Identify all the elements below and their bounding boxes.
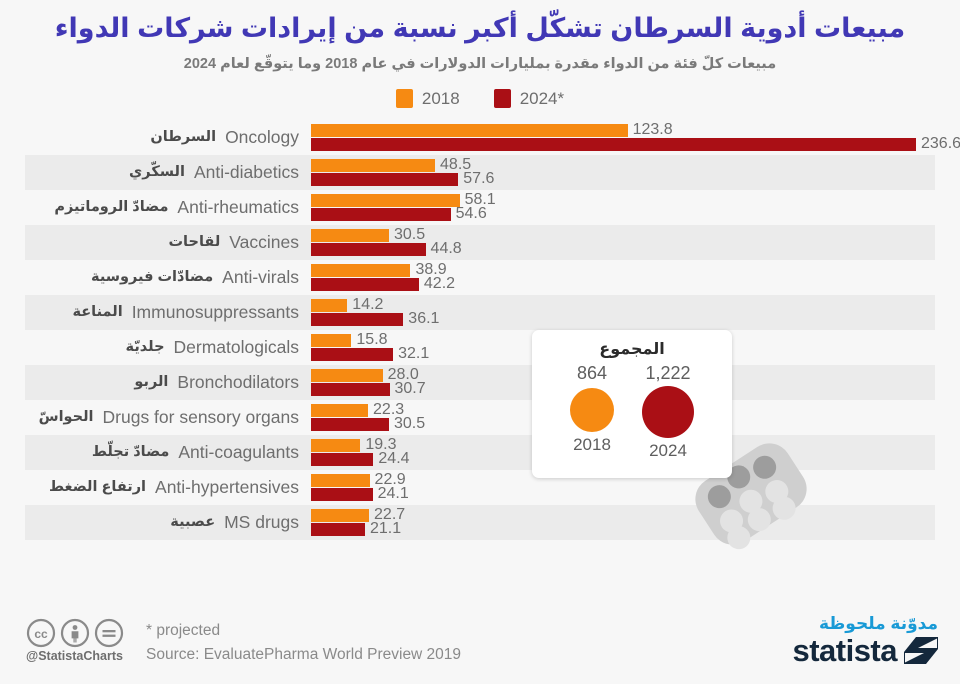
- bar-2024[interactable]: [311, 383, 390, 396]
- statista-mark-icon: [904, 637, 938, 664]
- category-label-english: Immunosuppressants: [132, 302, 299, 323]
- bar-value-label: 24.1: [378, 485, 409, 503]
- row-bars: 30.544.8: [311, 225, 951, 260]
- category-label: السرطانOncology: [0, 127, 305, 148]
- total-group-2024: 1,222 2024: [642, 363, 694, 461]
- category-label: الربوBronchodilators: [0, 372, 305, 393]
- bar-value-label: 30.7: [395, 380, 426, 398]
- total-summary-card: المجموع 864 2018 1,222 2024: [532, 330, 732, 478]
- category-label: ارتفاع الضغطAnti-hypertensives: [0, 477, 305, 498]
- bar-2024[interactable]: [311, 173, 458, 186]
- category-label-english: Anti-diabetics: [194, 162, 299, 183]
- bar-2018[interactable]: [311, 229, 389, 242]
- bar-value-label: 54.6: [456, 205, 487, 223]
- bar-2024[interactable]: [311, 348, 393, 361]
- category-label: عصبيةMS drugs: [0, 512, 305, 533]
- legend-item-2024[interactable]: 2024*: [494, 89, 564, 109]
- cc-by-person-icon: [60, 618, 90, 648]
- chart-row: مضادّ الروماتيزمAnti-rheumatics58.154.6: [0, 190, 960, 225]
- bar-value-label: 236.6: [921, 135, 960, 153]
- category-label-arabic: مضادّ تجلّط: [92, 444, 170, 460]
- chart-row: المناعةImmunosuppressants14.236.1: [0, 295, 960, 330]
- bar-2024[interactable]: [311, 278, 419, 291]
- bar-value-label: 14.2: [352, 296, 383, 314]
- row-bars: 22.721.1: [311, 505, 951, 540]
- bar-2018[interactable]: [311, 334, 351, 347]
- category-label: مضادّ تجلّطAnti-coagulants: [0, 442, 305, 463]
- category-label: مضادّات فيروسيةAnti-virals: [0, 267, 305, 288]
- page-title: مبيعات أدوية السرطان تشكّل أكبر نسبة من …: [0, 12, 960, 46]
- source-line: Source: EvaluatePharma World Preview 201…: [146, 643, 461, 667]
- category-label: مضادّ الروماتيزمAnti-rheumatics: [0, 197, 305, 218]
- chart-row: لقاحاتVaccines30.544.8: [0, 225, 960, 260]
- bar-2018[interactable]: [311, 439, 360, 452]
- bar-2018[interactable]: [311, 474, 370, 487]
- legend-swatch-2018: [396, 89, 413, 108]
- category-label-english: Bronchodilators: [177, 372, 299, 393]
- infographic-root: مبيعات أدوية السرطان تشكّل أكبر نسبة من …: [0, 0, 960, 684]
- category-label-english: Vaccines: [229, 232, 299, 253]
- creative-commons-block: cc @StatistaCharts: [26, 618, 146, 663]
- bar-value-label: 44.8: [431, 240, 462, 258]
- category-label-arabic: جلديّة: [126, 339, 165, 355]
- bar-value-label: 15.8: [356, 331, 387, 349]
- page-subtitle: مبيعات كلّ فئة من الدواء مقدرة بمليارات …: [0, 56, 960, 72]
- bar-2024[interactable]: [311, 138, 916, 151]
- chart-row: مضادّات فيروسيةAnti-virals38.942.2: [0, 260, 960, 295]
- bar-value-label: 36.1: [408, 310, 439, 328]
- bar-2024[interactable]: [311, 313, 403, 326]
- statista-wordmark: statista: [792, 635, 897, 666]
- bar-value-label: 42.2: [424, 275, 455, 293]
- total-value-2018: 864: [577, 363, 607, 384]
- category-label-english: Oncology: [225, 127, 299, 148]
- category-label-arabic: السرطان: [150, 129, 216, 145]
- bar-2024[interactable]: [311, 453, 373, 466]
- bar-value-label: 32.1: [398, 345, 429, 363]
- category-label-arabic: الحواسّ: [39, 409, 94, 425]
- bar-value-label: 24.4: [378, 450, 409, 468]
- category-label-english: Anti-coagulants: [178, 442, 299, 463]
- bar-2018[interactable]: [311, 299, 347, 312]
- brand-arabic-label: مدوّنة ملحوظة: [792, 614, 938, 634]
- category-label-arabic: مضادّات فيروسية: [91, 269, 213, 285]
- bar-2024[interactable]: [311, 243, 426, 256]
- category-label-english: Anti-hypertensives: [155, 477, 299, 498]
- category-label-arabic: لقاحات: [168, 234, 220, 250]
- cc-logo-icon: cc: [26, 618, 56, 648]
- row-bars: 38.942.2: [311, 260, 951, 295]
- legend-label-2024: 2024*: [520, 89, 564, 109]
- creative-commons-icons: cc: [26, 618, 146, 648]
- total-year-2018: 2018: [573, 435, 611, 455]
- bar-value-label: 21.1: [370, 520, 401, 538]
- bar-2024[interactable]: [311, 523, 365, 536]
- bar-2024[interactable]: [311, 418, 389, 431]
- footnote-projected: * projected: [146, 619, 461, 643]
- bar-2018[interactable]: [311, 369, 383, 382]
- category-label-english: Anti-rheumatics: [177, 197, 299, 218]
- brand-block: مدوّنة ملحوظة statista: [792, 614, 938, 666]
- bar-2018[interactable]: [311, 509, 369, 522]
- category-label-english: MS drugs: [224, 512, 299, 533]
- svg-text:cc: cc: [34, 627, 48, 641]
- legend-label-2018: 2018: [422, 89, 460, 109]
- row-bars: 123.8236.6: [311, 120, 951, 155]
- category-label-arabic: عصبية: [170, 514, 215, 530]
- bar-value-label: 30.5: [394, 415, 425, 433]
- row-bars: 58.154.6: [311, 190, 951, 225]
- category-label: جلديّةDermatologicals: [0, 337, 305, 358]
- category-label-english: Dermatologicals: [174, 337, 299, 358]
- total-year-2024: 2024: [649, 441, 687, 461]
- bar-2018[interactable]: [311, 194, 460, 207]
- category-label-arabic: مضادّ الروماتيزم: [54, 199, 168, 215]
- legend-item-2018[interactable]: 2018: [396, 89, 460, 109]
- chart-legend: 2018 2024*: [0, 86, 960, 112]
- total-value-2024: 1,222: [645, 363, 690, 384]
- bar-2018[interactable]: [311, 124, 628, 137]
- category-label: لقاحاتVaccines: [0, 232, 305, 253]
- bar-2018[interactable]: [311, 264, 410, 277]
- category-label-english: Anti-virals: [222, 267, 299, 288]
- bar-2018[interactable]: [311, 159, 435, 172]
- chart-row: الربوBronchodilators28.030.7: [0, 365, 960, 400]
- header: مبيعات أدوية السرطان تشكّل أكبر نسبة من …: [0, 0, 960, 72]
- bar-2018[interactable]: [311, 404, 368, 417]
- bar-2024[interactable]: [311, 488, 373, 501]
- category-label: السكّريAnti-diabetics: [0, 162, 305, 183]
- chart-row: السرطانOncology123.8236.6: [0, 120, 960, 155]
- category-label-arabic: المناعة: [72, 304, 122, 320]
- total-circle-2018: [570, 388, 614, 432]
- category-label-arabic: السكّري: [129, 164, 185, 180]
- bar-value-label: 30.5: [394, 226, 425, 244]
- total-card-title: المجموع: [532, 339, 732, 359]
- row-bars: 48.557.6: [311, 155, 951, 190]
- total-group-2018: 864 2018: [570, 363, 614, 461]
- category-label-arabic: الربو: [134, 374, 168, 390]
- bar-value-label: 123.8: [633, 121, 673, 139]
- cc-nd-equals-icon: [94, 618, 124, 648]
- category-label-english: Drugs for sensory organs: [103, 407, 299, 428]
- chart-row: جلديّةDermatologicals15.832.1: [0, 330, 960, 365]
- bar-value-label: 57.6: [463, 170, 494, 188]
- total-card-groups: 864 2018 1,222 2024: [532, 363, 732, 461]
- footer: cc @StatistaCharts * projected Source: E…: [0, 600, 960, 684]
- statista-logo: statista: [792, 635, 938, 666]
- category-label-arabic: ارتفاع الضغط: [49, 479, 146, 495]
- chart-row: السكّريAnti-diabetics48.557.6: [0, 155, 960, 190]
- bar-2024[interactable]: [311, 208, 451, 221]
- category-label: الحواسّDrugs for sensory organs: [0, 407, 305, 428]
- footer-text: * projected Source: EvaluatePharma World…: [146, 619, 461, 667]
- category-label: المناعةImmunosuppressants: [0, 302, 305, 323]
- row-bars: 14.236.1: [311, 295, 951, 330]
- total-circle-2024: [642, 386, 694, 438]
- statista-handle: @StatistaCharts: [26, 649, 146, 663]
- legend-swatch-2024: [494, 89, 511, 108]
